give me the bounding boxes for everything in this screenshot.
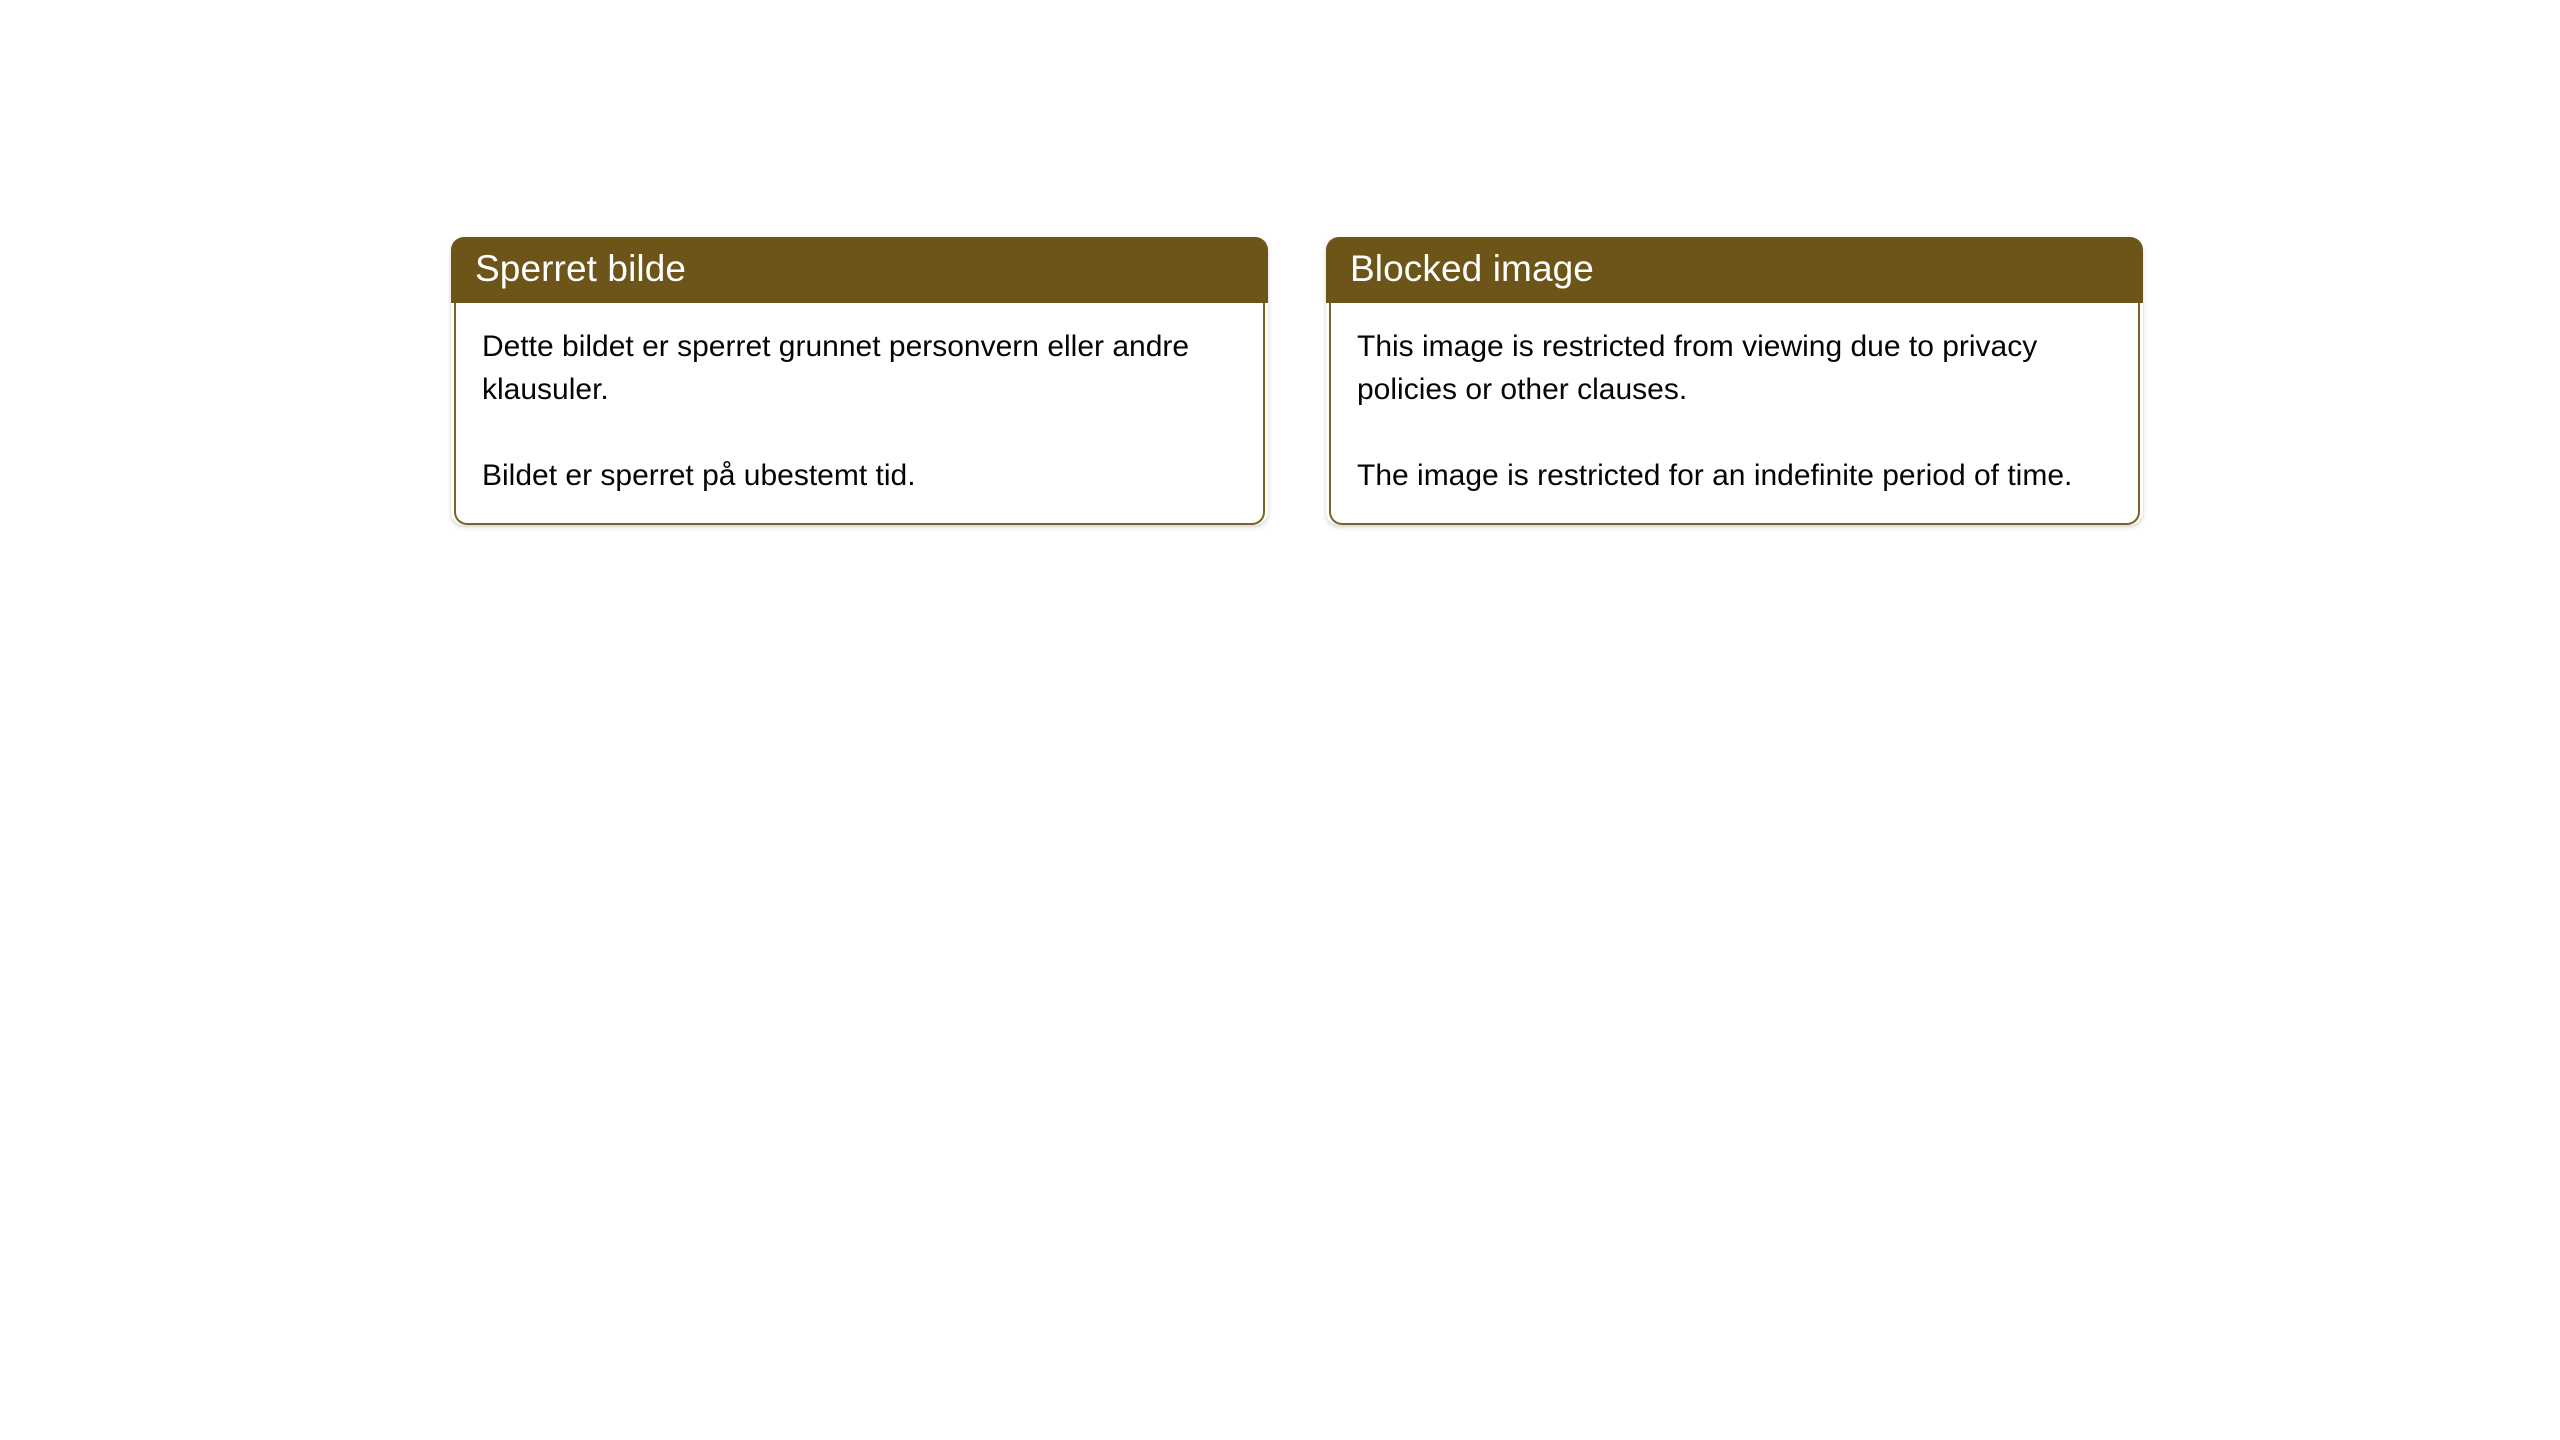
card-body-en: This image is restricted from viewing du… [1329, 303, 2140, 525]
notice-cards-row: Sperret bilde Dette bildet er sperret gr… [451, 237, 2143, 525]
card-paragraph-reason-no: Dette bildet er sperret grunnet personve… [482, 325, 1237, 411]
card-header-no: Sperret bilde [451, 237, 1268, 303]
card-title-no: Sperret bilde [475, 250, 686, 290]
card-body-no: Dette bildet er sperret grunnet personve… [454, 303, 1265, 525]
card-title-en: Blocked image [1350, 250, 1594, 290]
blocked-image-notice-card-en: Blocked image This image is restricted f… [1326, 237, 2143, 525]
card-paragraph-reason-en: This image is restricted from viewing du… [1357, 325, 2112, 411]
page-root: Sperret bilde Dette bildet er sperret gr… [0, 0, 2560, 1440]
blocked-image-notice-card-no: Sperret bilde Dette bildet er sperret gr… [451, 237, 1268, 525]
card-paragraph-duration-no: Bildet er sperret på ubestemt tid. [482, 454, 1237, 497]
card-paragraph-duration-en: The image is restricted for an indefinit… [1357, 454, 2112, 497]
card-header-en: Blocked image [1326, 237, 2143, 303]
